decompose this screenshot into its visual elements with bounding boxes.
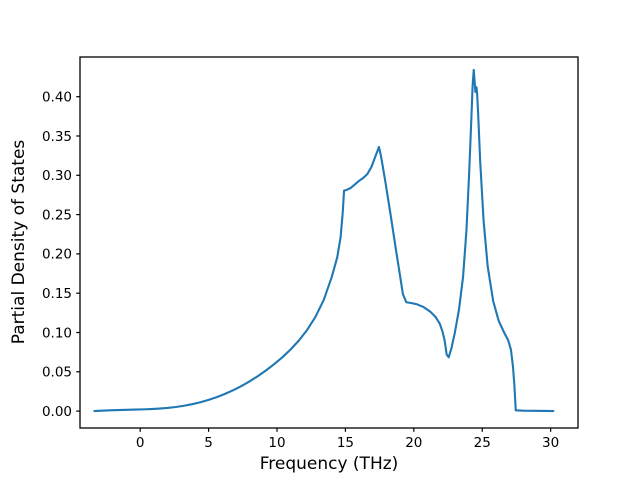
x-tick-label: 0 (136, 435, 145, 451)
y-tick-label: 0.25 (42, 207, 72, 223)
x-tick-label: 5 (204, 435, 213, 451)
x-tick-label: 10 (268, 435, 285, 451)
y-tick-label: 0.40 (42, 89, 72, 105)
figure-canvas: 051015202530 0.000.050.100.150.200.250.3… (0, 0, 640, 480)
y-tick-label: 0.20 (42, 247, 72, 263)
y-tick-label: 0.05 (42, 365, 72, 381)
x-tick-label: 25 (474, 435, 491, 451)
x-axis-ticks: 051015202530 (136, 428, 559, 451)
plot-background (80, 57, 578, 428)
y-tick-label: 0.15 (42, 286, 72, 302)
y-tick-label: 0.30 (42, 168, 72, 184)
x-tick-label: 15 (337, 435, 354, 451)
x-axis-label: Frequency (THz) (260, 454, 399, 474)
y-tick-label: 0.00 (42, 404, 72, 420)
y-tick-label: 0.35 (42, 129, 72, 145)
y-axis-label: Partial Density of States (9, 140, 29, 345)
x-tick-label: 30 (542, 435, 559, 451)
x-tick-label: 20 (405, 435, 422, 451)
y-tick-label: 0.10 (42, 325, 72, 341)
y-axis-ticks: 0.000.050.100.150.200.250.300.350.40 (42, 89, 80, 419)
chart-plot: 051015202530 0.000.050.100.150.200.250.3… (0, 0, 640, 480)
